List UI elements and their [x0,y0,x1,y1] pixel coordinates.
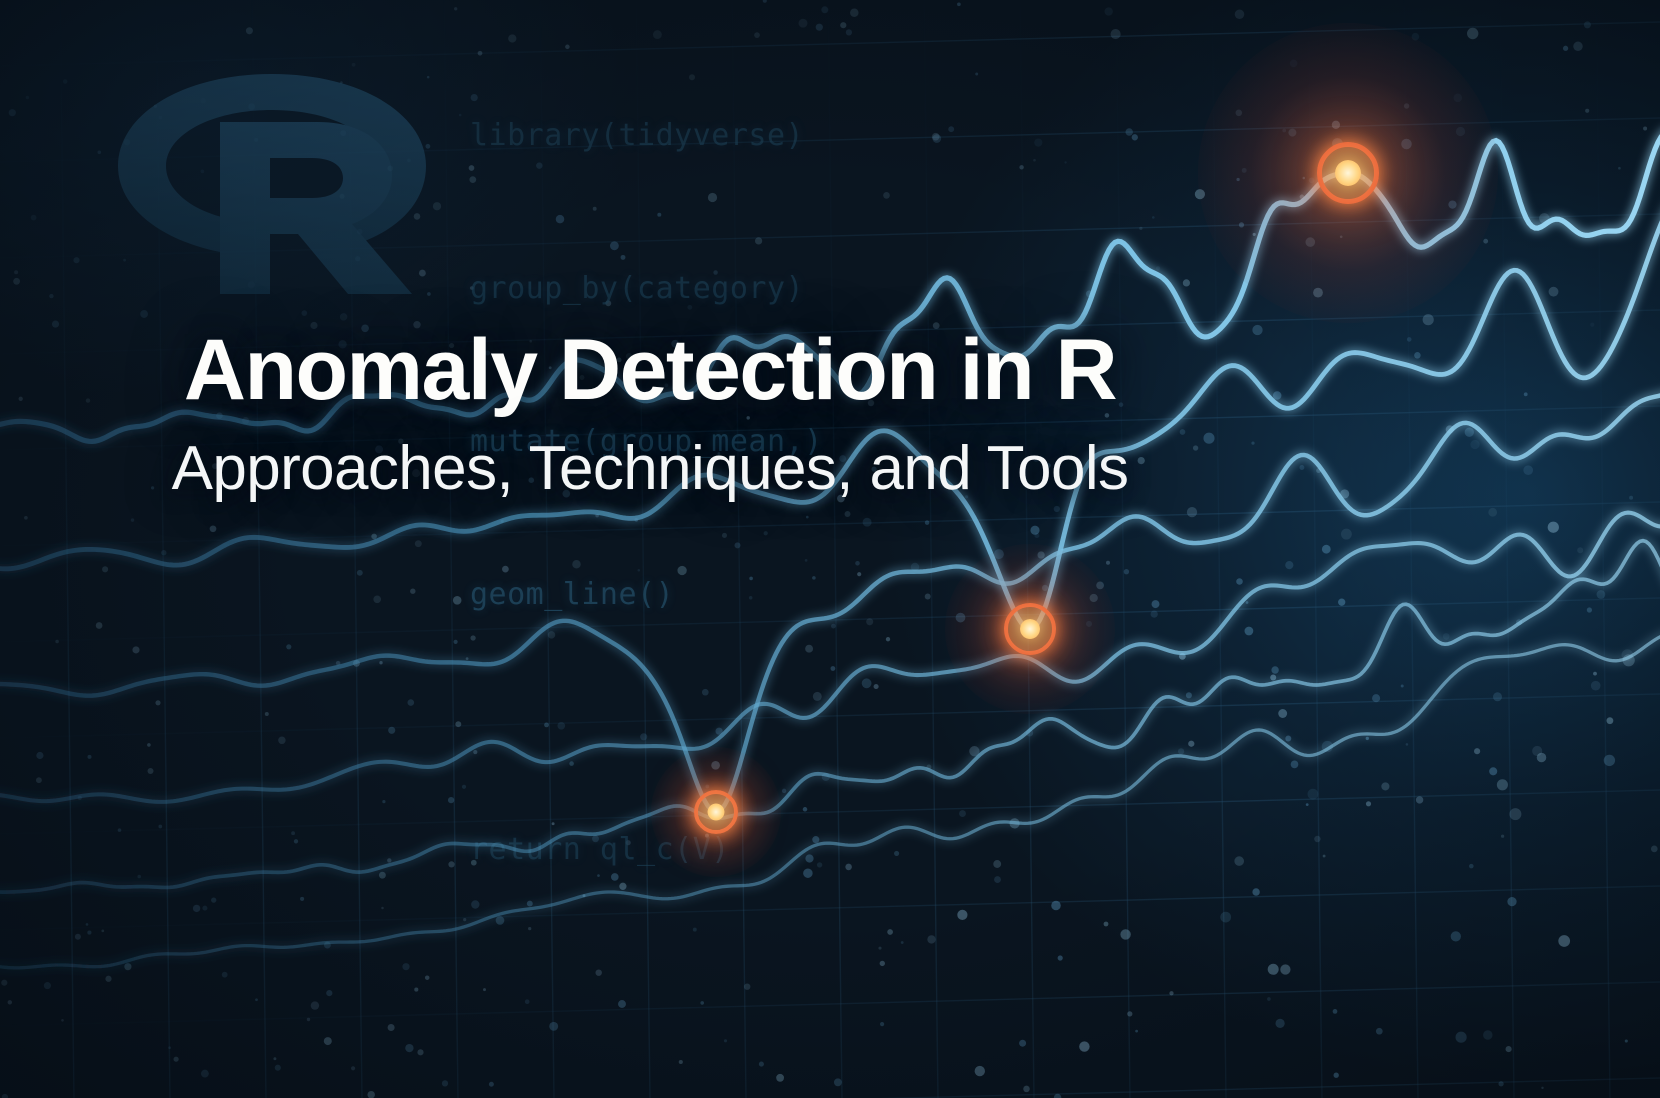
anomaly-core-point [1020,619,1040,639]
anomaly-core-point [708,804,725,821]
anomaly-core-point [1335,160,1361,186]
poster-canvas: library(tidyverse) group_by(category) mu… [0,0,1660,1098]
anomaly-marker-group [0,0,1660,1098]
